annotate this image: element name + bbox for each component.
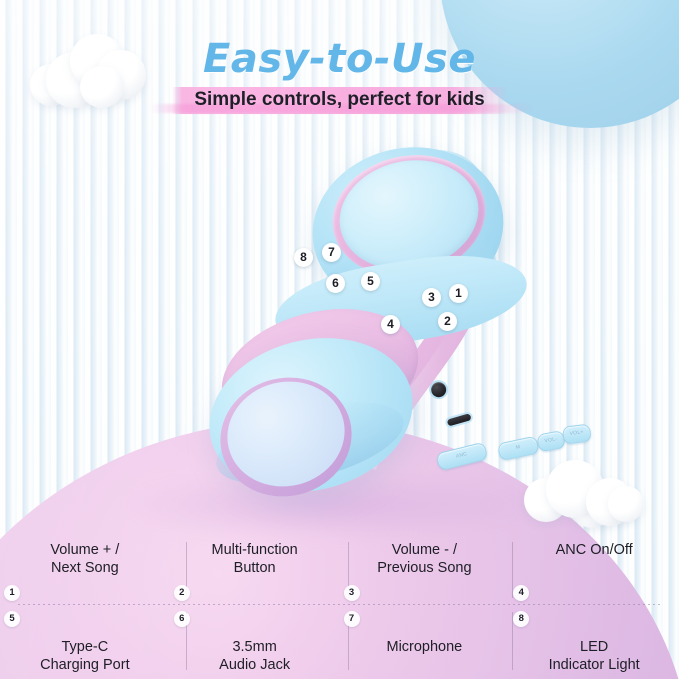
legend-item-number: 1 [4,585,20,601]
volume-down-button[interactable]: VOL- [536,430,566,452]
legend-item-label: Multi-functionButton [170,541,340,577]
legend-item-6: 3.5mmAudio Jack6 [170,607,340,679]
product-callout-4: 4 [381,315,400,334]
legend-item-label: ANC On/Off [509,541,679,559]
legend-item-number: 2 [174,585,190,601]
page-subtitle: Simple controls, perfect for kids [0,84,679,116]
legend-item-label: Microphone [340,638,510,656]
legend-item-1: Volume + /Next Song1 [0,534,170,607]
product-callout-3: 3 [422,288,441,307]
legend-item-4: ANC On/Off4 [509,534,679,607]
legend-item-label: Type-CCharging Port [0,638,170,674]
legend-item-label: LEDIndicator Light [509,638,679,674]
legend-item-number: 5 [4,611,20,627]
legend-item-number: 7 [344,611,360,627]
page-title: Easy-to-Use [0,36,679,82]
legend-panel: Volume + /Next Song1Multi-functionButton… [0,534,679,679]
product-callout-6: 6 [326,274,345,293]
product-callout-1: 1 [449,284,468,303]
legend-grid: Volume + /Next Song1Multi-functionButton… [0,534,679,679]
legend-item-label: Volume + /Next Song [0,541,170,577]
legend-item-number: 4 [513,585,529,601]
legend-item-number: 8 [513,611,529,627]
legend-item-label: 3.5mmAudio Jack [170,638,340,674]
legend-item-2: Multi-functionButton2 [170,534,340,607]
legend-item-number: 6 [174,611,190,627]
cloud-puff [608,486,644,522]
legend-item-number: 3 [344,585,360,601]
near-ear-cup [208,312,428,512]
legend-item-5: Type-CCharging Port5 [0,607,170,679]
legend-item-8: LEDIndicator Light8 [509,607,679,679]
product-infographic: Easy-to-Use Simple controls, perfect for… [0,0,679,679]
legend-item-3: Volume - /Previous Song3 [340,534,510,607]
legend-item-label: Volume - /Previous Song [340,541,510,577]
subtitle-banner: Simple controls, perfect for kids [0,84,679,118]
legend-item-7: Microphone7 [340,607,510,679]
product-callout-2: 2 [438,312,457,331]
product-callout-8: 8 [294,248,313,267]
product-callout-7: 7 [322,243,341,262]
product-callout-5: 5 [361,272,380,291]
